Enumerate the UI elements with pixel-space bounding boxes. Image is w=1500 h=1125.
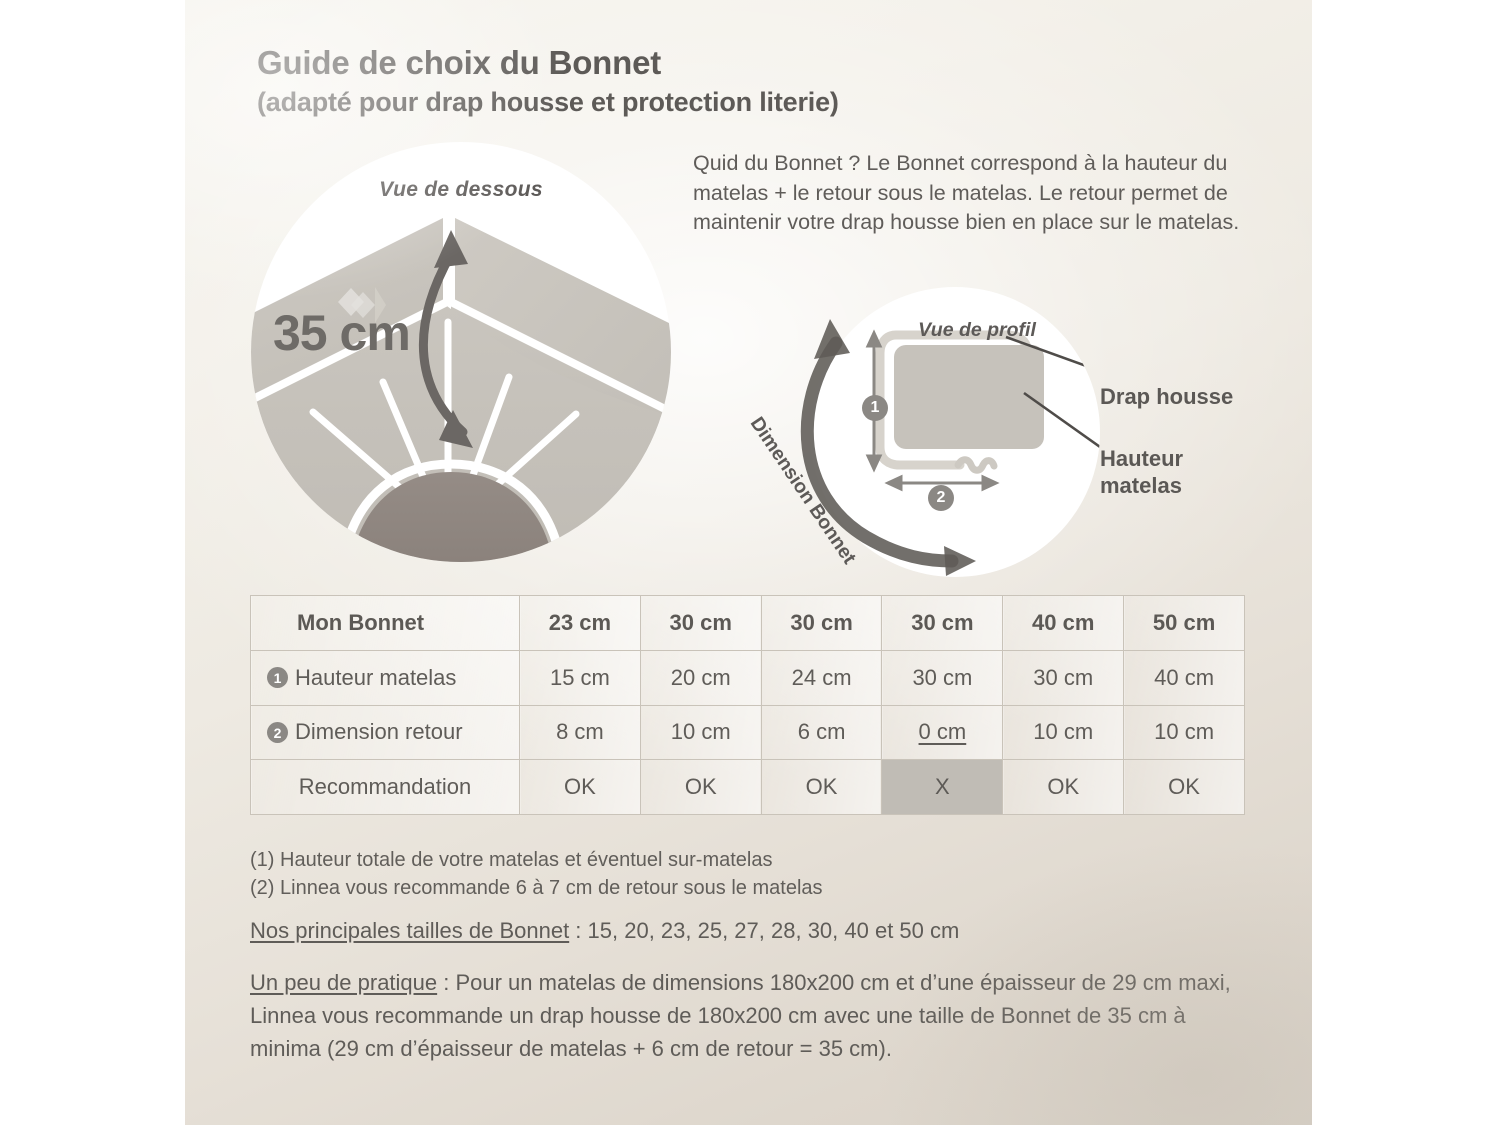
principal-sizes-label: Nos principales tailles de Bonnet xyxy=(250,918,569,943)
badge-1-profile: 1 xyxy=(862,395,888,421)
bonnet-measure-value: 35 cm xyxy=(273,304,473,362)
cell-reco-4: X xyxy=(882,760,1003,815)
cell-retour-4: 0 cm xyxy=(882,705,1003,760)
row-label-hauteur-matelas: 1Hauteur matelas xyxy=(251,650,520,705)
callout-hauteur-matelas-line1: Hauteur xyxy=(1100,445,1183,472)
principal-sizes-values: : 15, 20, 23, 25, 27, 28, 30, 40 et 50 c… xyxy=(569,918,959,943)
row-label-dimension-retour-text: Dimension retour xyxy=(295,719,463,744)
diagram-profile-view: Dimension Bonnet xyxy=(770,285,1290,585)
screenshot-root: Guide de choix du Bonnet (adapté pour dr… xyxy=(0,0,1500,1125)
cell-bonnet-2: 30 cm xyxy=(640,596,761,651)
badge-1-table: 1 xyxy=(267,667,288,688)
table-row-recommandation: Recommandation OK OK OK X OK OK xyxy=(251,760,1245,815)
cell-bonnet-6: 50 cm xyxy=(1124,596,1245,651)
cell-hauteur-5: 30 cm xyxy=(1003,650,1124,705)
cell-retour-4-value: 0 cm xyxy=(919,719,967,744)
practice-paragraph: Un peu de pratique : Pour un matelas de … xyxy=(250,966,1260,1065)
cell-retour-3: 6 cm xyxy=(761,705,882,760)
cell-retour-2: 10 cm xyxy=(640,705,761,760)
cell-hauteur-1: 15 cm xyxy=(520,650,641,705)
callout-drap-housse: Drap housse xyxy=(1100,383,1233,410)
cell-hauteur-2: 20 cm xyxy=(640,650,761,705)
table-row-hauteur-matelas: 1Hauteur matelas 15 cm 20 cm 24 cm 30 cm… xyxy=(251,650,1245,705)
page-title: Guide de choix du Bonnet xyxy=(257,44,1157,82)
row-label-recommandation: Recommandation xyxy=(251,760,520,815)
callout-hauteur-matelas-line2: matelas xyxy=(1100,472,1183,499)
row-label-dimension-retour: 2Dimension retour xyxy=(251,705,520,760)
cell-bonnet-4: 30 cm xyxy=(882,596,1003,651)
intro-paragraph: Quid du Bonnet ? Le Bonnet correspond à … xyxy=(693,149,1273,238)
cell-bonnet-5: 40 cm xyxy=(1003,596,1124,651)
cell-hauteur-4: 30 cm xyxy=(882,650,1003,705)
footnotes: (1) Hauteur totale de votre matelas et é… xyxy=(250,846,1150,902)
table-row-dimension-retour: 2Dimension retour 8 cm 10 cm 6 cm 0 cm 1… xyxy=(251,705,1245,760)
footnote-1: (1) Hauteur totale de votre matelas et é… xyxy=(250,846,1150,874)
bottom-view-label: Vue de dessous xyxy=(251,178,671,202)
cell-reco-5: OK xyxy=(1003,760,1124,815)
cell-retour-5: 10 cm xyxy=(1003,705,1124,760)
table-row-mon-bonnet: Mon Bonnet 23 cm 30 cm 30 cm 30 cm 40 cm… xyxy=(251,596,1245,651)
principal-sizes-line: Nos principales tailles de Bonnet : 15, … xyxy=(250,916,1250,946)
row-label-mon-bonnet: Mon Bonnet xyxy=(251,596,520,651)
bonnet-size-table: Mon Bonnet 23 cm 30 cm 30 cm 30 cm 40 cm… xyxy=(250,595,1245,815)
cell-reco-2: OK xyxy=(640,760,761,815)
practice-label: Un peu de pratique xyxy=(250,970,437,995)
content-sheet: Guide de choix du Bonnet (adapté pour dr… xyxy=(185,0,1312,1125)
cell-hauteur-6: 40 cm xyxy=(1124,650,1245,705)
callout-hauteur-matelas: Hauteur matelas xyxy=(1100,445,1183,499)
cell-reco-3: OK xyxy=(761,760,882,815)
cell-bonnet-1: 23 cm xyxy=(520,596,641,651)
cell-retour-1: 8 cm xyxy=(520,705,641,760)
cell-bonnet-3: 30 cm xyxy=(761,596,882,651)
diagram-bottom-view: Vue de dessous 35 cm xyxy=(251,142,671,562)
cell-hauteur-3: 24 cm xyxy=(761,650,882,705)
bonnet-sweep-arrow-icon xyxy=(770,285,1290,585)
row-label-hauteur-matelas-text: Hauteur matelas xyxy=(295,665,456,690)
badge-2-table: 2 xyxy=(267,722,288,743)
badge-2-profile: 2 xyxy=(928,485,954,511)
footnote-2: (2) Linnea vous recommande 6 à 7 cm de r… xyxy=(250,874,1150,902)
cell-reco-1: OK xyxy=(520,760,641,815)
page-subtitle: (adapté pour drap housse et protection l… xyxy=(257,87,1217,118)
cell-retour-6: 10 cm xyxy=(1124,705,1245,760)
cell-reco-6: OK xyxy=(1124,760,1245,815)
